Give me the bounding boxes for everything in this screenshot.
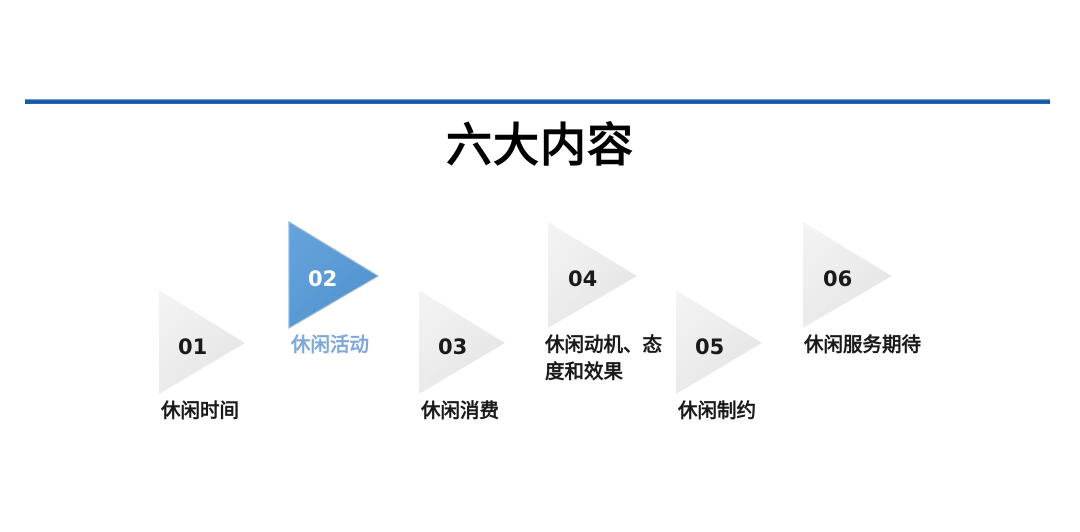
step-label-04-line1: 休闲动机、态 bbox=[545, 332, 662, 359]
step-label-06: 休闲服务期待 bbox=[804, 332, 921, 359]
step-label-02: 休闲活动 bbox=[291, 332, 369, 359]
step-number-04: 04 bbox=[568, 269, 597, 290]
step-number-05: 05 bbox=[695, 337, 724, 358]
step-label-03: 休闲消费 bbox=[421, 398, 499, 425]
step-label-05: 休闲制约 bbox=[678, 398, 756, 425]
slide-canvas: 六大内容 01 休闲时间 bbox=[0, 0, 1080, 532]
step-label-04-line2: 度和效果 bbox=[545, 359, 623, 386]
process-arrow-list: 01 休闲时间 02 休闲活动 bbox=[0, 0, 1080, 532]
step-number-01: 01 bbox=[178, 337, 207, 358]
step-label-01: 休闲时间 bbox=[161, 398, 239, 425]
step-number-02: 02 bbox=[308, 269, 337, 290]
step-number-06: 06 bbox=[823, 269, 852, 290]
step-number-03: 03 bbox=[438, 337, 467, 358]
